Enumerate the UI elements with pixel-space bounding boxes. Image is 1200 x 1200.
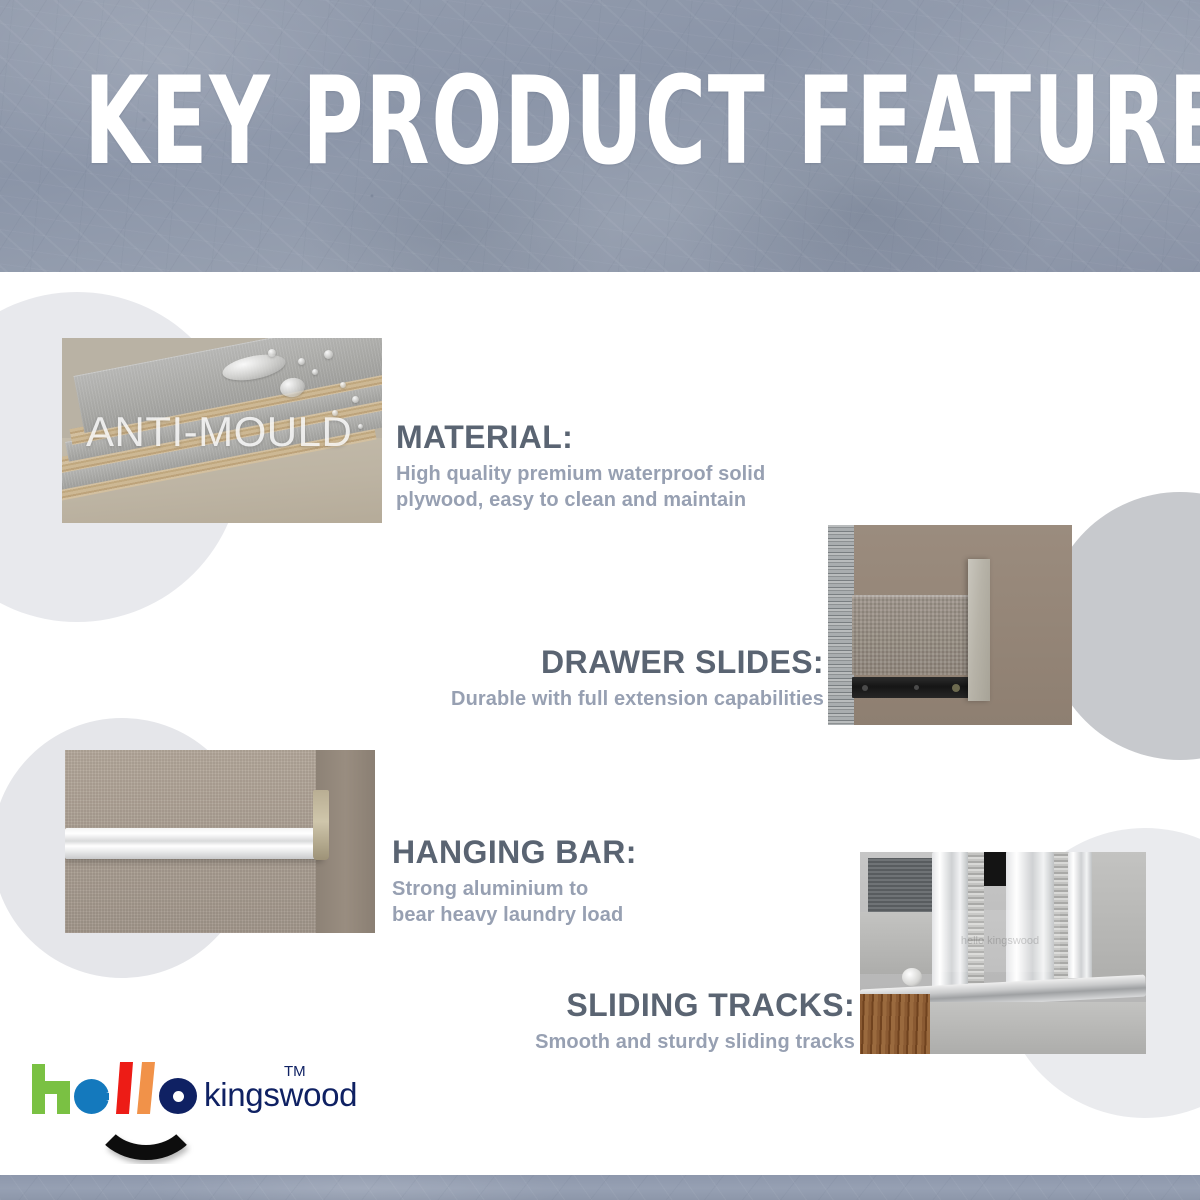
logo-wordmark: kingswood TM: [32, 1062, 332, 1114]
rail-screw: [952, 684, 960, 692]
cabinet-base-panel: [860, 912, 938, 974]
feature-description-sliding-tracks: Smooth and sturdy sliding tracks: [370, 1029, 855, 1055]
louvre-vent-panel: [868, 858, 936, 913]
feature-title-material: MATERIAL:: [396, 420, 866, 456]
logo-letter-h-icon: [32, 1064, 70, 1114]
wooden-skirting: [860, 994, 930, 1054]
aluminium-hanging-rail: [65, 828, 323, 859]
feature-description-material-line1: High quality premium waterproof solid: [396, 461, 866, 487]
feature-text-sliding-tracks: SLIDING TRACKS: Smooth and sturdy slidin…: [370, 988, 855, 1055]
brand-logo[interactable]: kingswood TM: [32, 1062, 332, 1172]
water-droplet-small: [324, 350, 333, 359]
hanging-bar-photo: [65, 750, 375, 933]
feature-title-drawer-slides: DRAWER SLIDES:: [330, 645, 824, 681]
water-droplet-small: [268, 349, 276, 357]
feature-text-material: MATERIAL: High quality premium waterproo…: [396, 420, 866, 513]
brand-watermark: hello kingswood: [940, 910, 1060, 972]
sliding-tracks-photo: hello kingswood: [860, 852, 1146, 1054]
water-droplet-small: [298, 358, 305, 365]
feature-title-hanging-bar: HANGING BAR:: [392, 835, 812, 871]
feature-title-sliding-tracks: SLIDING TRACKS:: [370, 988, 855, 1024]
watermark-text: hello kingswood: [961, 935, 1039, 947]
rail-hole: [862, 685, 868, 691]
rail-hole: [914, 685, 919, 690]
water-droplet-small: [352, 396, 359, 403]
infographic-page: KEY PRODUCT FEATURES ANTI-MOU: [0, 0, 1200, 1200]
drawer-box: [852, 595, 970, 675]
interior-floor: [1092, 852, 1146, 992]
logo-letter-e-bar-icon: [87, 1093, 109, 1100]
sliding-door-far: [1068, 852, 1092, 978]
feature-description-hanging-bar-line2: bear heavy laundry load: [392, 902, 812, 928]
anti-mould-overlay-label: ANTI-MOULD: [86, 408, 352, 456]
logo-letter-o-icon: [159, 1078, 197, 1114]
door-gap: [984, 852, 1006, 886]
footer-banner: [0, 1175, 1200, 1200]
water-droplet-small: [358, 424, 363, 429]
page-title: KEY PRODUCT FEATURES: [84, 62, 1116, 183]
drawer-cabinet-stile: [828, 525, 854, 725]
drawer-slide-rail: [852, 677, 972, 698]
feature-description-drawer-slides: Durable with full extension capabilities: [330, 686, 824, 712]
feature-description-material-line2: plywood, easy to clean and maintain: [396, 487, 866, 513]
logo-letter-l-red-icon: [116, 1062, 133, 1114]
logo-smile-icon: [90, 1122, 202, 1164]
logo-trademark-mark: TM: [284, 1064, 306, 1079]
drawer-slide-photo: [828, 525, 1072, 725]
hanging-bar-bracket: [313, 790, 329, 860]
water-droplet-small: [340, 382, 346, 388]
feature-text-hanging-bar: HANGING BAR: Strong aluminium to bear he…: [392, 835, 812, 928]
roller-wheel: [902, 968, 922, 986]
logo-brand-name: kingswood: [204, 1078, 357, 1111]
water-droplet-small: [312, 369, 318, 375]
drawer-front-panel: [968, 559, 990, 701]
feature-text-drawer-slides: DRAWER SLIDES: Durable with full extensi…: [330, 645, 824, 712]
feature-description-hanging-bar-line1: Strong aluminium to: [392, 876, 812, 902]
header-banner: KEY PRODUCT FEATURES: [0, 0, 1200, 272]
logo-letter-l-orange-icon: [137, 1062, 155, 1114]
